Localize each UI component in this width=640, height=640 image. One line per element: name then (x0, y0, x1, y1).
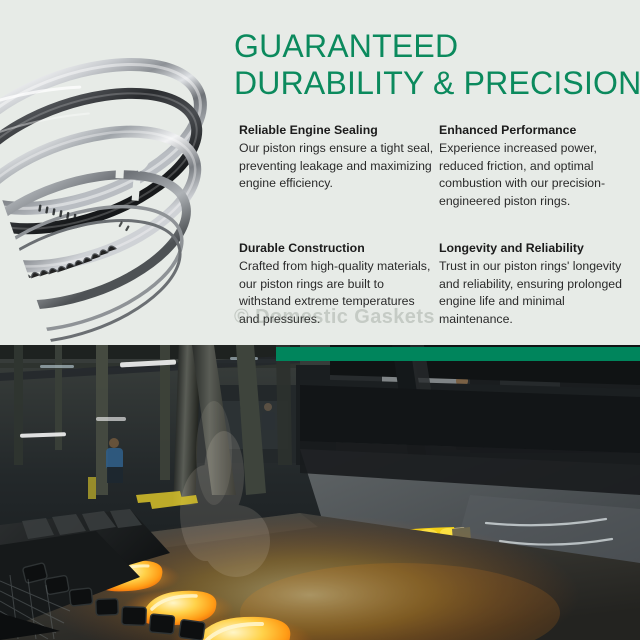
feature-title: Reliable Engine Sealing (239, 122, 434, 139)
feature-item-longevity-and-reliability: Longevity and Reliability Trust in our p… (439, 240, 639, 328)
feature-title: Durable Construction (239, 240, 434, 257)
feature-body: Crafted from high-quality ma­terials, ou… (239, 258, 434, 328)
feature-body: Trust in our piston rings' lon­gevity an… (439, 258, 639, 328)
product-feature-banner: GUARANTEED DURABILITY & PRECISION Reliab… (0, 0, 640, 640)
feature-grid: Reliable Engine Sealing Our piston rings… (239, 122, 639, 328)
feature-item-reliable-engine-sealing: Reliable Engine Sealing Our piston rings… (239, 122, 439, 210)
feature-body: Experience increased power, reduced fric… (439, 140, 639, 210)
piston-rings-photo (0, 0, 232, 345)
feature-body: Our piston rings ensure a tight seal, pr… (239, 140, 434, 193)
top-content-section: GUARANTEED DURABILITY & PRECISION Reliab… (0, 0, 640, 345)
feature-title: Enhanced Performance (439, 122, 639, 139)
feature-item-enhanced-performance: Enhanced Performance Experience increase… (439, 122, 639, 210)
heading-line-2: DURABILITY & PRECISION (234, 65, 634, 102)
feature-row-2: Durable Construction Crafted from high-q… (239, 240, 639, 328)
feature-item-durable-construction: Durable Construction Crafted from high-q… (239, 240, 439, 328)
feature-title: Longevity and Reliability (439, 240, 639, 257)
heading-line-1: GUARANTEED (234, 28, 634, 65)
page-title: GUARANTEED DURABILITY & PRECISION (234, 28, 634, 102)
forging-factory-photo (0, 345, 640, 640)
feature-row-1: Reliable Engine Sealing Our piston rings… (239, 122, 639, 210)
green-accent-bar (276, 347, 640, 361)
